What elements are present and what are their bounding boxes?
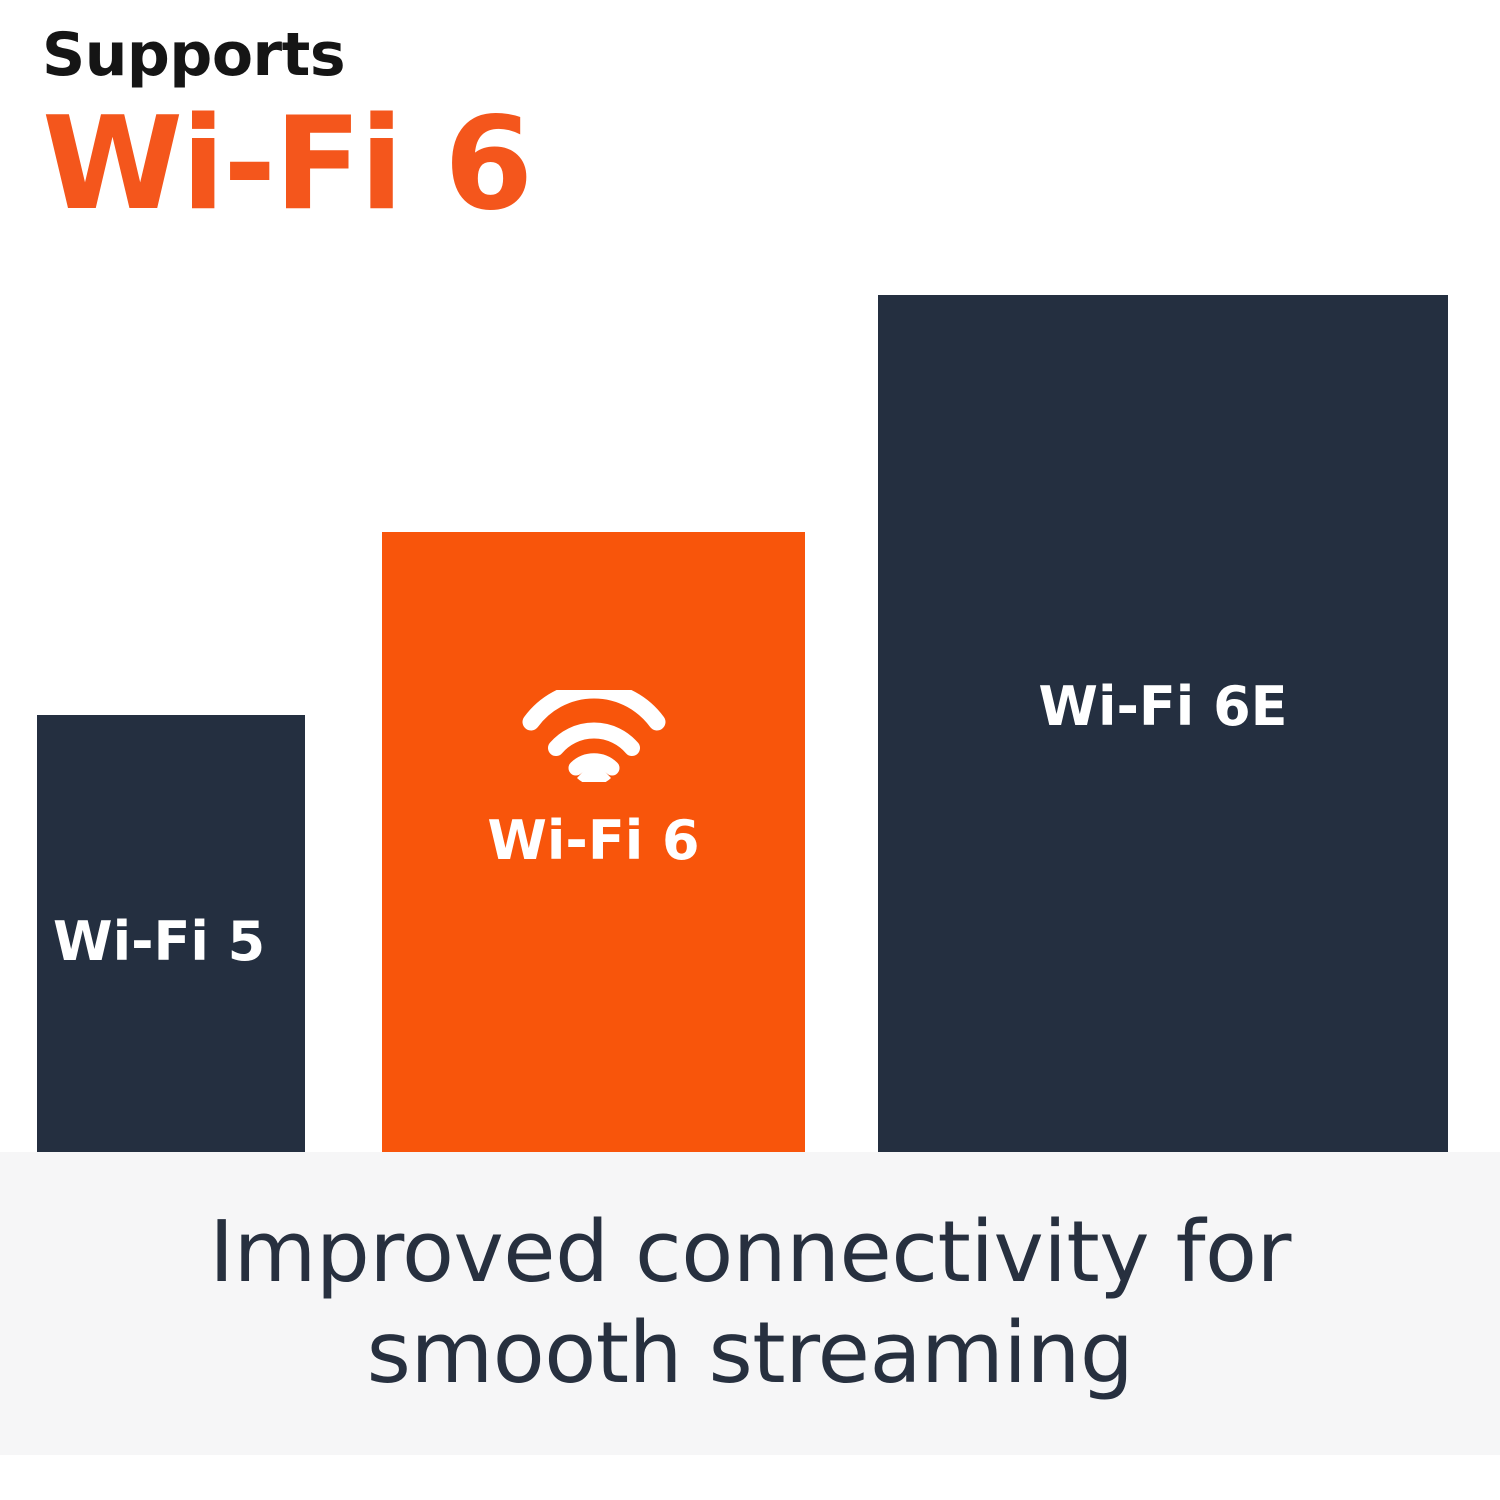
bar-wifi-6e: Wi-Fi 6E	[878, 295, 1448, 1152]
bar-label-wifi-6: Wi-Fi 6	[487, 814, 699, 868]
caption-line-1: Improved connectivity for	[209, 1203, 1291, 1303]
wifi-signal-icon	[519, 690, 669, 782]
bar-label-wifi-6e: Wi-Fi 6E	[1038, 680, 1287, 734]
caption-line-2: smooth streaming	[367, 1304, 1134, 1404]
footer-whitespace	[0, 1455, 1500, 1500]
caption-band: Improved connectivity for smooth streami…	[0, 1152, 1500, 1455]
bar-wifi-6: Wi-Fi 6	[382, 532, 805, 1152]
wifi6-infographic: Supports Wi-Fi 6 Wi-Fi 5 Wi-Fi 6 Wi-	[0, 0, 1500, 1500]
bar-wifi-5: Wi-Fi 5	[37, 715, 305, 1152]
bar-label-wifi-5: Wi-Fi 5	[53, 915, 265, 969]
bar-chart: Wi-Fi 5 Wi-Fi 6 Wi-Fi 6E	[0, 0, 1500, 1152]
